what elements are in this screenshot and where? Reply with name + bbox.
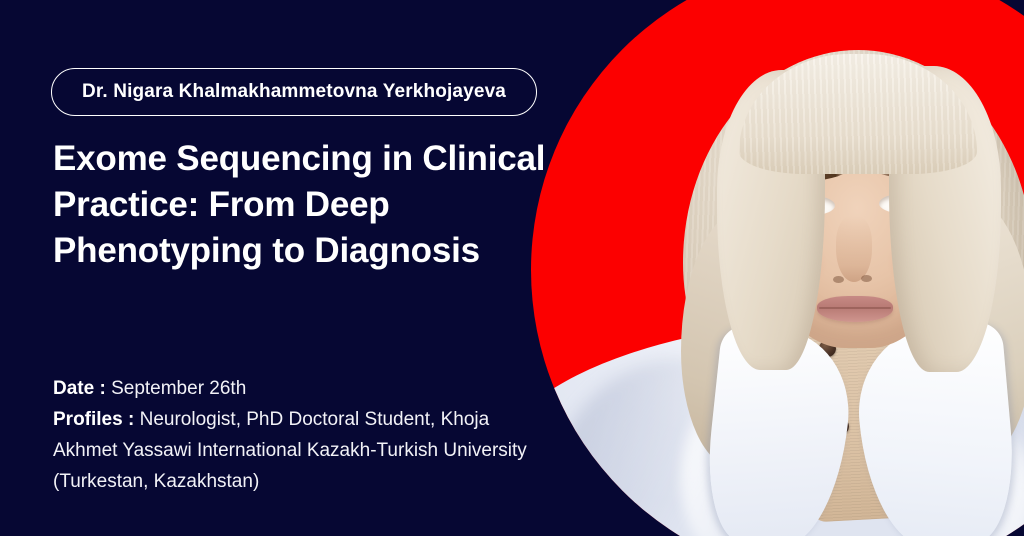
profiles-row: Profiles : Neurologist, PhD Doctoral Stu… [53, 404, 533, 497]
talk-title-line-2: Practice: From Deep [53, 182, 553, 228]
red-circle-backdrop [531, 0, 1024, 536]
profiles-label: Profiles : [53, 409, 134, 430]
date-label: Date : [53, 378, 106, 399]
talk-title: Exome Sequencing in Clinical Practice: F… [53, 136, 553, 274]
talk-details: Date : September 26th Profiles : Neurolo… [53, 373, 533, 497]
date-row: Date : September 26th [53, 373, 533, 404]
speaker-name-label: Dr. Nigara Khalmakhammetovna Yerkhojayev… [82, 81, 506, 103]
talk-title-line-1: Exome Sequencing in Clinical [53, 136, 553, 182]
talk-title-line-3: Phenotyping to Diagnosis [53, 228, 553, 274]
speaker-name-badge: Dr. Nigara Khalmakhammetovna Yerkhojayev… [51, 68, 537, 116]
date-value: September 26th [111, 378, 246, 399]
speaker-announcement-banner: Dr. Nigara Khalmakhammetovna Yerkhojayev… [0, 0, 1024, 536]
